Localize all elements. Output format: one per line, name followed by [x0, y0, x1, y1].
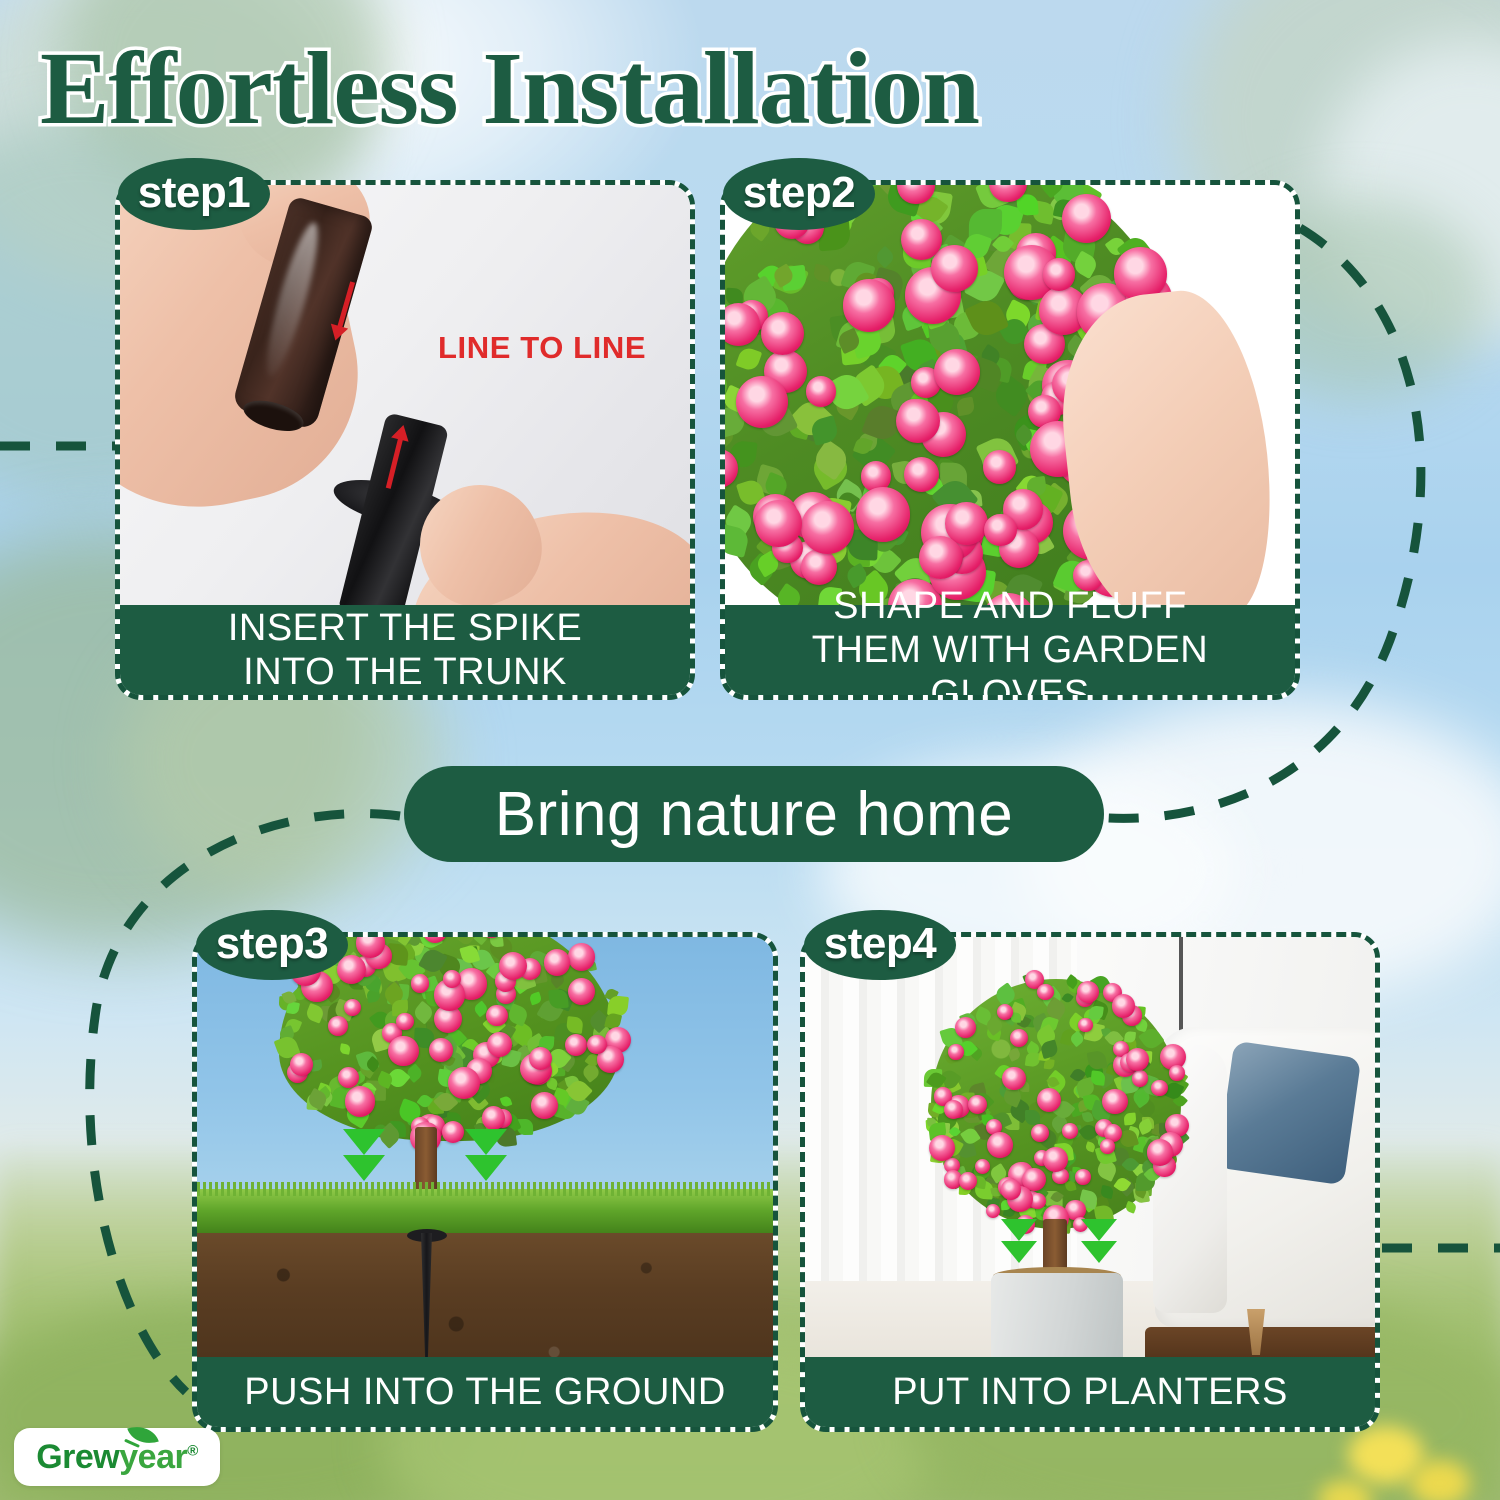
rose-flower — [1132, 1070, 1148, 1086]
leaf-icon — [1025, 1110, 1040, 1125]
step2-caption: SHAPE AND FLUFF THEM WITH GARDEN GLOVES — [725, 605, 1295, 695]
rose-flower — [806, 376, 837, 407]
step3-photo — [197, 937, 773, 1367]
rose-flower — [290, 1053, 314, 1077]
rose-flower — [856, 487, 911, 542]
step-card-3: PUSH INTO THE GROUND — [192, 932, 778, 1432]
rose-flower — [843, 279, 895, 331]
rose-flower — [975, 1159, 990, 1174]
grass-layer — [197, 1189, 773, 1237]
rose-flower — [1037, 984, 1054, 1001]
rose-flower — [448, 1067, 480, 1099]
rose-flower — [761, 312, 804, 355]
rose-flower — [725, 303, 760, 346]
step4-caption: PUT INTO PLANTERS — [805, 1357, 1375, 1427]
rose-flower — [1043, 258, 1076, 291]
leaf-icon — [529, 991, 543, 1005]
step-badge-1: step1 — [118, 158, 270, 230]
step2-photo — [725, 185, 1295, 615]
leaf-icon — [1007, 1047, 1022, 1062]
trademark-symbol: ® — [187, 1442, 198, 1459]
leaf-icon — [874, 246, 897, 269]
rose-flower — [443, 970, 461, 988]
step-badge-3: step3 — [196, 910, 348, 980]
rose-flower — [1100, 1139, 1114, 1153]
rose-flower — [499, 952, 527, 980]
page-title: Effortless Installation — [40, 34, 1220, 144]
rose-flower — [544, 949, 570, 975]
down-chevron-icon — [343, 1155, 385, 1181]
bring-nature-home-banner: Bring nature home — [404, 766, 1104, 862]
blue-pillow — [1217, 1041, 1362, 1186]
rose-flower — [411, 974, 429, 992]
rose-flower — [396, 1013, 414, 1031]
brand-logo: Grewyear® — [14, 1428, 220, 1486]
step1-caption: INSERT THE SPIKE INTO THE TRUNK — [120, 605, 690, 695]
down-chevron-icon — [1001, 1241, 1037, 1263]
leaf-icon — [813, 264, 832, 283]
rose-flower — [919, 536, 962, 579]
down-chevron-icon — [465, 1155, 507, 1181]
rose-flower — [565, 1034, 587, 1056]
leaf-icon — [339, 1043, 351, 1055]
leaf-icon — [566, 1016, 584, 1034]
rose-flower — [984, 514, 1017, 547]
rose-flower — [801, 501, 854, 554]
rose-flower — [931, 245, 978, 292]
rose-flower — [328, 1016, 348, 1036]
rose-flower — [1147, 1139, 1174, 1166]
step1-photo: LINE TO LINE — [120, 185, 690, 615]
rose-flower — [736, 376, 788, 428]
leaf-icon — [1062, 992, 1075, 1005]
step4-photo — [805, 937, 1375, 1367]
rose-flower — [345, 1086, 375, 1116]
rose-flower — [934, 349, 980, 395]
rose-flower — [959, 1172, 977, 1190]
soil-cross-section — [197, 1233, 773, 1367]
leaf-icon — [499, 1094, 512, 1107]
leaf-icon — [1124, 1113, 1137, 1126]
rose-flower — [487, 1032, 512, 1057]
rose-flower — [568, 978, 595, 1005]
step-card-2: SHAPE AND FLUFF THEM WITH GARDEN GLOVES — [720, 180, 1300, 700]
rose-flower — [344, 999, 361, 1016]
leaf-icon — [955, 397, 974, 416]
rose-flower — [955, 1017, 976, 1038]
rose-flower — [388, 1036, 419, 1067]
topiary-canopy — [931, 979, 1181, 1229]
rose-flower — [1077, 981, 1099, 1003]
rose-flower — [1031, 1124, 1049, 1142]
down-chevron-icon — [343, 1129, 385, 1155]
rose-flower — [529, 1047, 552, 1070]
rose-flower — [983, 450, 1017, 484]
step-badge-4: step4 — [804, 910, 956, 980]
step-badge-2: step2 — [723, 158, 875, 230]
rose-flower — [1062, 1123, 1078, 1139]
rose-flower — [1062, 194, 1111, 243]
rose-flower — [568, 943, 596, 971]
leaf-icon — [1124, 1201, 1137, 1214]
rose-flower — [1169, 1065, 1185, 1081]
rose-flower — [987, 1132, 1013, 1158]
brand-name-part1: Grew — [36, 1438, 119, 1476]
rose-flower — [1043, 1147, 1068, 1172]
rose-flower — [442, 1121, 464, 1143]
rose-flower — [531, 1092, 558, 1119]
rose-flower — [929, 1135, 955, 1161]
rose-flower — [1112, 994, 1136, 1018]
rose-flower — [801, 549, 837, 585]
planter-pot — [991, 1273, 1123, 1367]
rose-flower — [587, 1035, 607, 1055]
down-chevron-icon — [1001, 1219, 1037, 1241]
down-chevron-icon — [1081, 1219, 1117, 1241]
down-chevron-icon — [1081, 1241, 1117, 1263]
rose-flower — [1102, 1089, 1127, 1114]
brand-logo-text: Grewyear® — [36, 1438, 198, 1477]
rose-flower — [968, 1095, 987, 1114]
rose-flower — [755, 500, 802, 547]
rose-flower — [1075, 1169, 1091, 1185]
rose-flower — [948, 1044, 964, 1060]
leaf-icon — [736, 345, 763, 372]
rose-flower — [482, 1106, 506, 1130]
rose-flower — [1001, 1179, 1022, 1200]
step3-caption: PUSH INTO THE GROUND — [197, 1357, 773, 1427]
rose-flower — [901, 219, 942, 260]
bg-yellow-flower — [1410, 1460, 1470, 1500]
line-to-line-annotation: LINE TO LINE — [438, 330, 646, 366]
rose-flower — [944, 1100, 963, 1119]
rose-flower — [1010, 1029, 1028, 1047]
step-card-1: LINE TO LINE INSERT THE SPIKE INTO THE T… — [115, 180, 695, 700]
down-chevron-icon — [465, 1129, 507, 1155]
step-card-4: PUT INTO PLANTERS — [800, 932, 1380, 1432]
rose-flower — [1151, 1080, 1167, 1096]
